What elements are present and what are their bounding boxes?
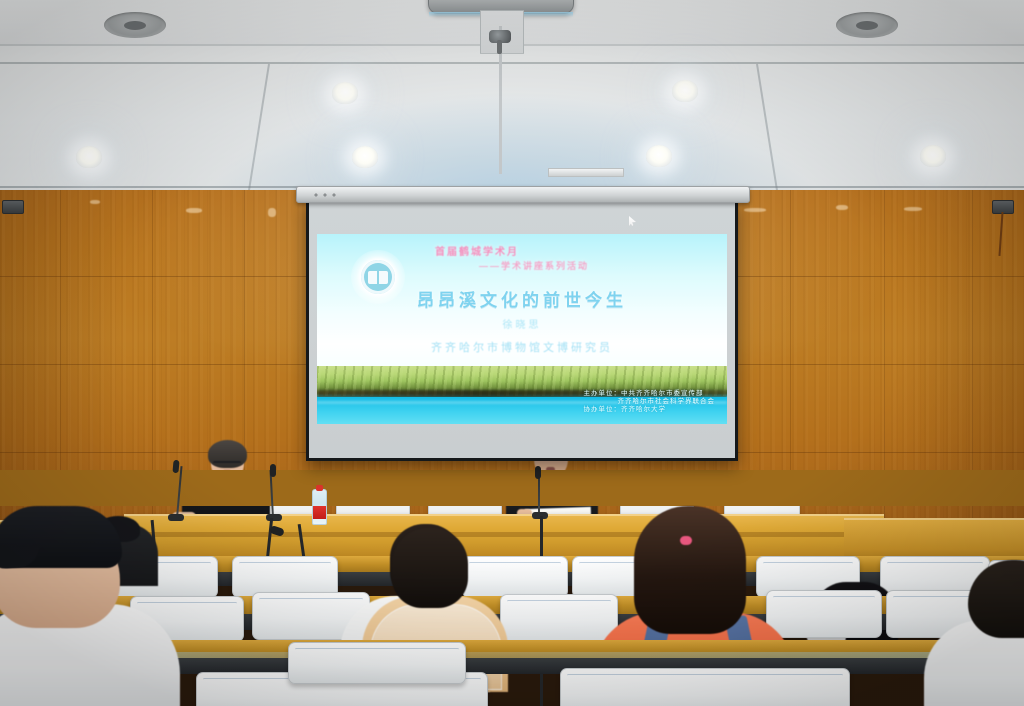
screen-housing: [296, 186, 750, 203]
microphone-base: [266, 514, 282, 521]
slide-affiliation: 齐齐哈尔市博物馆文博研究员: [317, 339, 727, 355]
ceiling-downlight: [920, 145, 946, 167]
ceiling-seam: [756, 64, 779, 195]
ceiling-seam: [0, 62, 1024, 64]
projection-screen[interactable]: 首届鹤城学术月 ——学术讲座系列活动 昂昂溪文化的前世今生 徐晓思 齐齐哈尔市博…: [309, 202, 735, 458]
attendee-orange-hair: [634, 506, 746, 634]
bottle-cap: [316, 485, 323, 491]
desk-lip: [124, 532, 884, 537]
microphone-head: [270, 464, 276, 477]
housing-vent-dots: [313, 193, 341, 197]
bottle-label: [313, 506, 326, 519]
ceiling-downlight: [672, 80, 698, 102]
microphone-base: [168, 514, 184, 521]
attendee-orange-hairtie: [680, 536, 692, 545]
cohost-label: 协办单位：: [584, 406, 622, 413]
slide-author: 徐晓思: [317, 316, 727, 331]
ceiling-vent: [104, 12, 166, 38]
audience-seat: [462, 556, 568, 598]
speaker-desk: [124, 514, 884, 560]
organizer-label: 主办单位：: [584, 390, 622, 397]
audience-seat: [500, 594, 618, 642]
water-bottle: [312, 489, 327, 525]
ceiling-seam: [247, 64, 270, 195]
audience-seat: [288, 642, 466, 684]
slide-organizers: 主办单位：中共齐齐哈尔市委宣传部 齐齐哈尔市社会科学界联合会 协办单位：齐齐哈尔…: [584, 390, 716, 414]
slide-header-line-1: 首届鹤城学术月: [435, 243, 519, 258]
microphone-head: [535, 466, 541, 479]
slide-title: 昂昂溪文化的前世今生: [317, 286, 727, 311]
slide-header-line-2: ——学术讲座系列活动: [479, 259, 589, 272]
attendee-beige-hair: [392, 528, 468, 608]
wall-speaker-icon: [2, 200, 24, 214]
ceiling-downlight: [76, 146, 102, 168]
organizer-2: 齐齐哈尔市社会科学界联合会: [618, 398, 716, 405]
dais-backing: [0, 470, 1024, 506]
projector-bracket: [489, 30, 511, 43]
logo-book-glyph: [368, 271, 388, 284]
presentation-slide: 首届鹤城学术月 ——学术讲座系列活动 昂昂溪文化的前世今生 徐晓思 齐齐哈尔市博…: [317, 234, 727, 424]
ceiling-downlight: [646, 145, 672, 167]
lecture-hall-photo: 首届鹤城学术月 ——学术讲座系列活动 昂昂溪文化的前世今生 徐晓思 齐齐哈尔市博…: [0, 0, 1024, 706]
ceiling-downlight: [332, 82, 358, 104]
ceiling-vent: [836, 12, 898, 38]
audience-seat: [560, 668, 850, 706]
cohost-1: 齐齐哈尔大学: [621, 406, 666, 413]
ceiling-downlight: [352, 146, 378, 168]
ceiling: [0, 0, 1024, 196]
moderator-glasses: [213, 461, 241, 469]
mouse-cursor-icon: [629, 216, 636, 226]
ceiling-air-duct: [548, 168, 624, 177]
audience-seat: [766, 590, 882, 638]
organizer-1: 中共齐齐哈尔市委宣传部: [621, 390, 704, 397]
